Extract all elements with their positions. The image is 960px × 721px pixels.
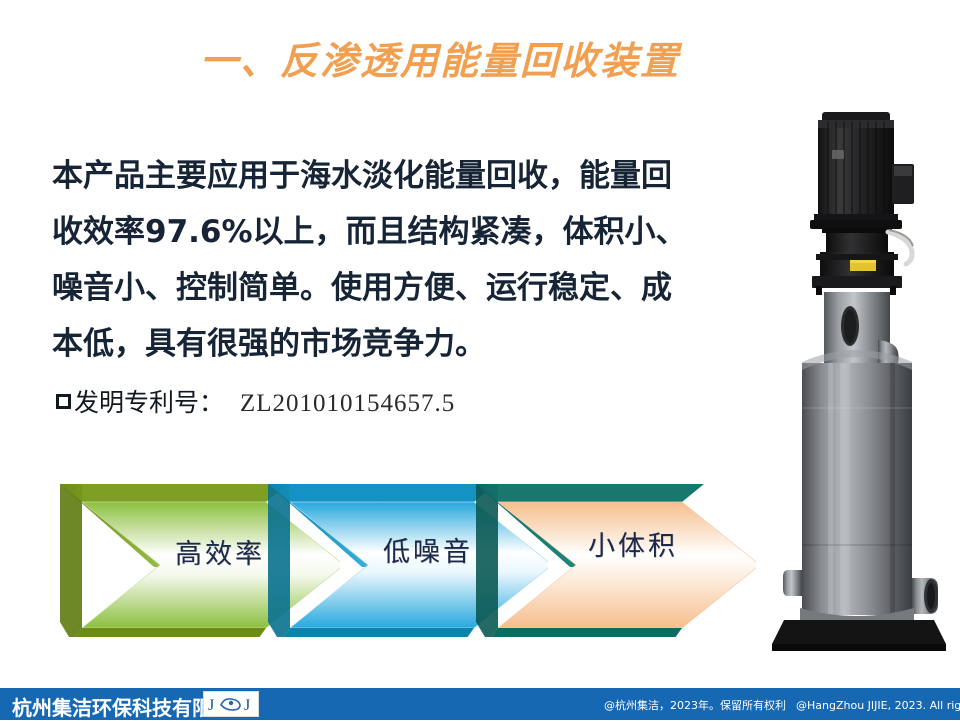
svg-text:J: J bbox=[244, 697, 250, 714]
footer-copyright-cn: @杭州集洁，2023年。保留所有权利 bbox=[604, 699, 786, 712]
chevron-process-graphic: 高效率 bbox=[0, 472, 720, 642]
patent-label: 发明专利号： bbox=[74, 383, 224, 419]
body-paragraph: 本产品主要应用于海水淡化能量回收，能量回收效率97.6%以上，而且结构紧凑，体积… bbox=[52, 148, 692, 372]
jijie-logo-icon: J J bbox=[204, 692, 258, 716]
footer-copyright: @杭州集洁，2023年。保留所有权利@HangZhou JIJIE, 2023.… bbox=[604, 697, 960, 713]
chevron-label-2: 小体积 bbox=[588, 524, 678, 563]
chevron-label-1: 低噪音 bbox=[383, 530, 473, 569]
svg-text:J: J bbox=[208, 697, 214, 714]
jijie-logo: J J bbox=[203, 691, 259, 717]
chevron-label-0: 高效率 bbox=[175, 532, 265, 571]
patent-number: ZL201010154657.5 bbox=[240, 390, 455, 418]
product-photo bbox=[770, 108, 955, 653]
footer-copyright-en: @HangZhou JIJIE, 2023. All rights reserv… bbox=[796, 699, 960, 712]
vertical-multistage-pump-icon bbox=[770, 108, 955, 653]
slide-root: 一、反渗透用能量回收装置 本产品主要应用于海水淡化能量回收，能量回收效率97.6… bbox=[0, 0, 960, 720]
square-bullet-icon bbox=[56, 394, 71, 409]
patent-line: 发明专利号： ZL201010154657.5 bbox=[56, 383, 455, 419]
chevron-item-2[interactable]: 小体积 bbox=[476, 472, 736, 632]
page-title: 一、反渗透用能量回收装置 bbox=[0, 30, 880, 85]
